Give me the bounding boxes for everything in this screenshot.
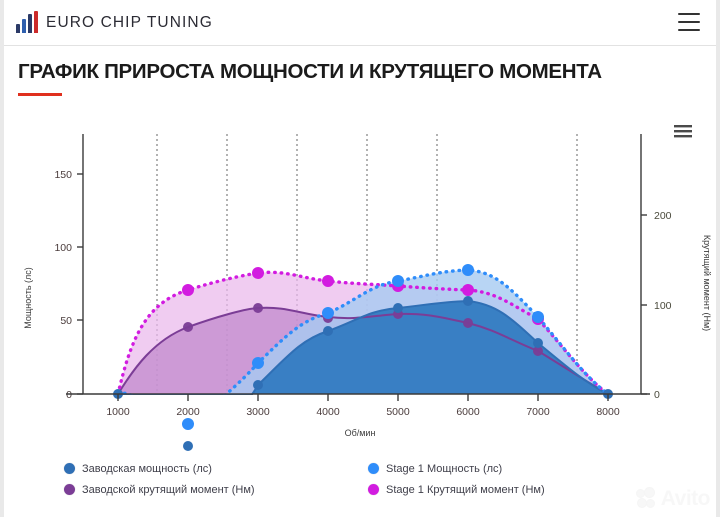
legend-label: Заводской крутящий момент (Нм): [82, 484, 255, 496]
svg-text:4000: 4000: [316, 406, 340, 418]
legend-label: Заводская мощность (лс): [82, 463, 212, 475]
svg-text:8000: 8000: [596, 406, 620, 418]
title-block: ГРАФИК ПРИРОСТА МОЩНОСТИ И КРУТЯЩЕГО МОМ…: [4, 46, 716, 96]
bottom-axis: [66, 394, 650, 401]
svg-text:2000: 2000: [176, 406, 200, 418]
chart-legend: Заводская мощность (лс) Заводской крутящ…: [0, 458, 720, 504]
svg-text:0: 0: [654, 389, 660, 401]
page-title: ГРАФИК ПРИРОСТА МОЩНОСТИ И КРУТЯЩЕГО МОМ…: [18, 60, 716, 84]
hamburger-menu-icon[interactable]: [678, 13, 700, 31]
x-axis-title: Об/мин: [345, 428, 376, 438]
brand-logo[interactable]: EURO CHIP TUNING: [16, 12, 213, 33]
svg-text:6000: 6000: [456, 406, 480, 418]
right-axis-tick-labels: 200 100 0: [654, 210, 672, 401]
brand-name: EURO CHIP TUNING: [46, 14, 213, 32]
bottom-axis-tick-labels: 1000 2000 3000 4000 5000 6000 7000 8000: [106, 406, 620, 418]
right-axis: [641, 134, 647, 394]
svg-text:7000: 7000: [526, 406, 550, 418]
left-axis-title: Мощность (лс): [23, 267, 33, 329]
legend-item-stage1-power[interactable]: Stage 1 Мощность (лс): [368, 458, 545, 479]
svg-text:0: 0: [66, 389, 72, 401]
chart-canvas: 150 100 50 0 Мощность (лс) 1000 2000 300…: [4, 118, 716, 513]
svg-text:100: 100: [654, 300, 672, 312]
svg-text:5000: 5000: [386, 406, 410, 418]
legend-marker-icon: [64, 463, 75, 474]
svg-text:150: 150: [54, 169, 72, 181]
legend-label: Stage 1 Мощность (лс): [386, 463, 502, 475]
power-torque-chart: 150 100 50 0 Мощность (лс) 1000 2000 300…: [4, 118, 716, 513]
legend-label: Stage 1 Крутящий момент (Нм): [386, 484, 545, 496]
svg-text:3000: 3000: [246, 406, 270, 418]
legend-marker-icon: [368, 484, 379, 495]
site-header: EURO CHIP TUNING: [4, 0, 716, 46]
right-gutter: [716, 0, 720, 517]
left-axis: [77, 134, 83, 394]
bar-chart-logo-icon: [16, 12, 38, 33]
chart-menu-icon[interactable]: [672, 124, 694, 140]
left-axis-tick-labels: 150 100 50 0: [54, 169, 72, 401]
title-underline: [18, 93, 62, 96]
svg-text:50: 50: [60, 315, 72, 327]
right-axis-title: Крутящий момент (Нм): [702, 235, 712, 331]
legend-item-stock-power[interactable]: Заводская мощность (лс): [64, 458, 255, 479]
legend-item-stage1-torque[interactable]: Stage 1 Крутящий момент (Нм): [368, 479, 545, 500]
svg-text:100: 100: [54, 242, 72, 254]
legend-marker-icon: [64, 484, 75, 495]
legend-marker-icon: [368, 463, 379, 474]
svg-text:1000: 1000: [106, 406, 130, 418]
legend-item-stock-torque[interactable]: Заводской крутящий момент (Нм): [64, 479, 255, 500]
svg-text:200: 200: [654, 210, 672, 222]
